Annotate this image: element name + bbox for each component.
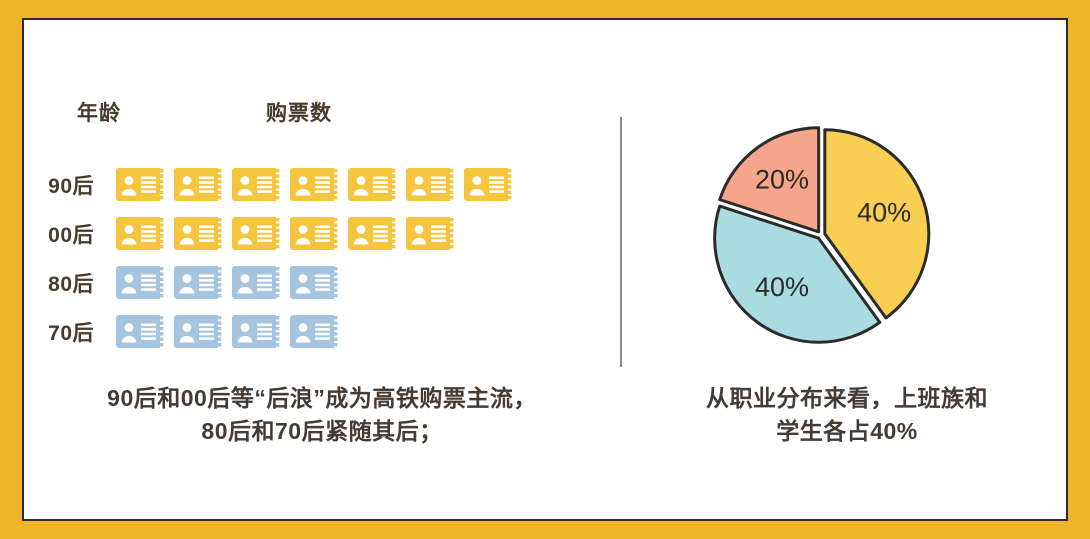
age-row: 00后: [24, 209, 620, 258]
age-row-label: 80后: [24, 268, 116, 298]
ticket-icon-strip: [116, 266, 339, 299]
ticket-icon-strip: [116, 168, 513, 201]
age-row-label: 00后: [24, 219, 116, 249]
ticket-icon-strip: [116, 217, 455, 250]
pie-chart: 40%40%20%: [716, 118, 926, 353]
ticket-icon: [290, 266, 339, 299]
occupation-caption-line-2: 学生各占40%: [637, 415, 1057, 448]
age-row: 70后: [24, 307, 620, 356]
ticket-icon: [174, 315, 223, 348]
ticket-icon: [174, 168, 223, 201]
ticket-icon: [116, 168, 165, 201]
ticket-icon: [116, 217, 165, 250]
occupation-distribution-panel: 40%40%20%: [620, 20, 1070, 523]
column-header-age: 年龄: [77, 97, 121, 127]
age-caption-line-1: 90后和00后等“后浪”成为高铁购票主流，: [36, 382, 608, 415]
age-row-list: 90后00后80后70后: [24, 160, 620, 356]
pie-slice-label: 40%: [755, 272, 809, 302]
age-row-label: 70后: [24, 317, 116, 347]
ticket-icon: [406, 168, 455, 201]
ticket-icon: [232, 266, 281, 299]
ticket-icon: [464, 168, 513, 201]
ticket-icon: [348, 217, 397, 250]
pie-slice-label: 20%: [755, 164, 809, 194]
column-header-ticket-count: 购票数: [266, 97, 332, 127]
ticket-icon: [174, 266, 223, 299]
content-card: 年龄 购票数 90后00后80后70后 40%40%20% 90后和00后等“后…: [22, 18, 1068, 521]
age-caption-line-2: 80后和70后紧随其后；: [36, 415, 608, 448]
ticket-icon: [116, 315, 165, 348]
ticket-icon: [174, 217, 223, 250]
ticket-icon: [290, 315, 339, 348]
ticket-icon: [232, 217, 281, 250]
age-distribution-panel: 年龄 购票数 90后00后80后70后: [24, 20, 620, 523]
occupation-caption-line-1: 从职业分布来看，上班族和: [637, 382, 1057, 415]
age-row: 80后: [24, 258, 620, 307]
pie-slice-label: 40%: [857, 198, 911, 228]
age-row: 90后: [24, 160, 620, 209]
ticket-icon: [232, 315, 281, 348]
ticket-icon: [290, 217, 339, 250]
ticket-icon: [290, 168, 339, 201]
ticket-icon: [348, 168, 397, 201]
card-content: 年龄 购票数 90后00后80后70后 40%40%20% 90后和00后等“后…: [24, 20, 1066, 519]
pie-chart-svg: 40%40%20%: [716, 118, 926, 353]
ticket-icon: [116, 266, 165, 299]
age-caption: 90后和00后等“后浪”成为高铁购票主流， 80后和70后紧随其后；: [36, 382, 608, 447]
occupation-caption: 从职业分布来看，上班族和 学生各占40%: [637, 382, 1057, 447]
ticket-icon-strip: [116, 315, 339, 348]
age-row-label: 90后: [24, 170, 116, 200]
ticket-icon: [406, 217, 455, 250]
infographic-poster: 年龄 购票数 90后00后80后70后 40%40%20% 90后和00后等“后…: [0, 0, 1090, 539]
ticket-icon: [232, 168, 281, 201]
